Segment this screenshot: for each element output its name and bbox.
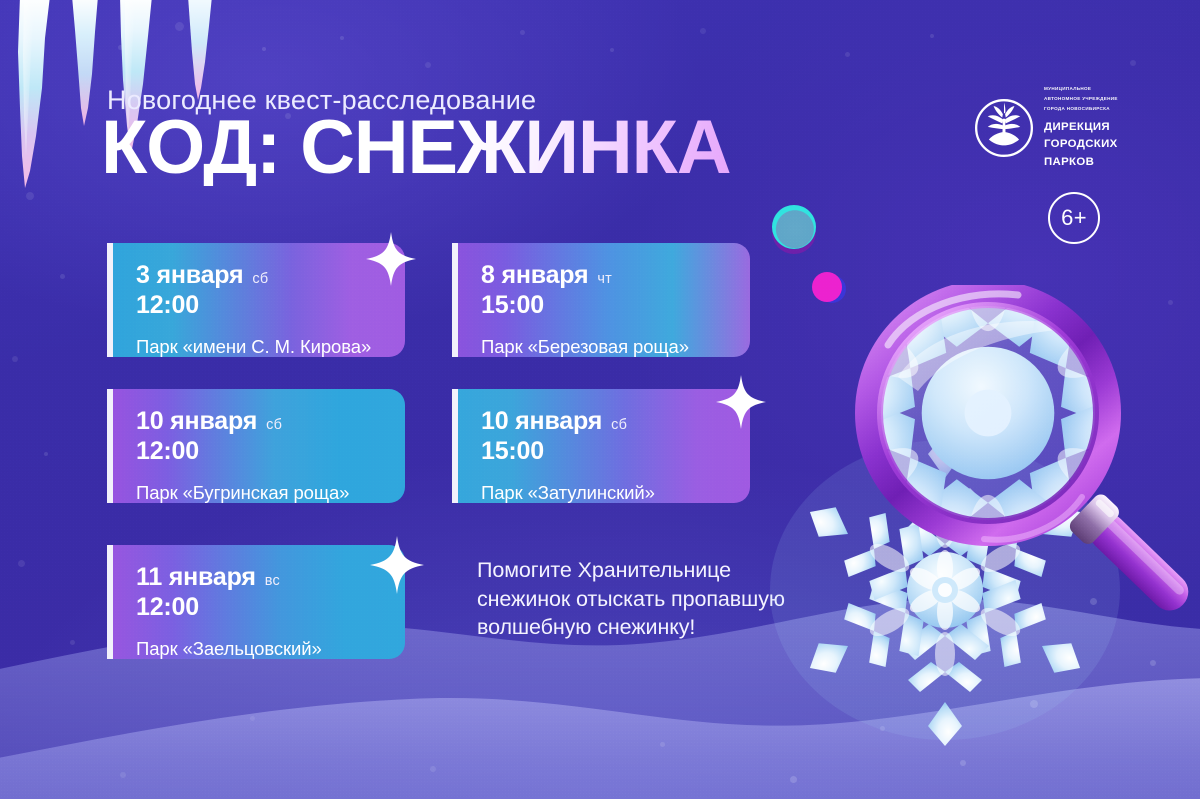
- snow-speck: [430, 766, 436, 772]
- snow-speck: [520, 30, 525, 35]
- snow-speck: [60, 274, 65, 279]
- organization-logo: МУНИЦИПАЛЬНОЕ АВТОНОМНОЕ УЧРЕЖДЕНИЕ ГОРО…: [975, 86, 1118, 169]
- snow-speck: [22, 100, 29, 107]
- card-date: 3 января: [136, 261, 243, 290]
- card-time: 15:00: [481, 291, 750, 320]
- logo-big-line-1: ДИРЕКЦИЯ: [1044, 120, 1118, 134]
- snow-speck: [1150, 660, 1156, 666]
- snow-speck: [1130, 60, 1136, 66]
- snow-speck: [960, 760, 966, 766]
- snow-speck: [250, 716, 255, 721]
- card-place: Парк «имени С. М. Кирова»: [136, 336, 405, 357]
- snow-speck: [12, 356, 18, 362]
- snow-speck: [70, 640, 75, 645]
- card-place: Парк «Березовая роща»: [481, 336, 750, 357]
- snow-speck: [44, 452, 48, 456]
- snow-speck: [660, 742, 665, 747]
- logo-tiny-line-2: АВТОНОМНОЕ УЧРЕЖДЕНИЕ: [1044, 96, 1118, 103]
- poster-canvas: Новогоднее квест-расследование КОД: СНЕЖ…: [0, 0, 1200, 799]
- card-place: Парк «Заельцовский»: [136, 638, 405, 659]
- card-date-row: 8 января чт: [481, 261, 750, 290]
- snowflake-magnifier-illustration: [770, 285, 1200, 785]
- card-time: 12:00: [136, 437, 405, 466]
- snow-speck: [1168, 300, 1173, 305]
- card-date-row: 10 января сб: [481, 407, 750, 436]
- card-weekday: сб: [611, 417, 627, 433]
- card-date-row: 10 января сб: [136, 407, 405, 436]
- card-date-row: 11 января вс: [136, 563, 405, 592]
- card-date: 10 января: [136, 407, 257, 436]
- age-rating-badge: 6+: [1048, 192, 1100, 244]
- card-time: 12:00: [136, 291, 405, 320]
- snow-speck: [930, 34, 934, 38]
- logo-big-line-3: ПАРКОВ: [1044, 155, 1118, 169]
- card-place: Парк «Бугринская роща»: [136, 482, 405, 503]
- card-date: 10 января: [481, 407, 602, 436]
- schedule-card[interactable]: 8 января чт 15:00 Парк «Березовая роща»: [452, 243, 750, 357]
- snow-speck: [340, 36, 344, 40]
- card-weekday: чт: [597, 271, 612, 287]
- card-time: 12:00: [136, 593, 405, 622]
- snow-speck: [880, 726, 885, 731]
- card-date: 8 января: [481, 261, 588, 290]
- decor-circle-teal: [772, 205, 816, 249]
- snow-speck: [120, 772, 126, 778]
- schedule-card[interactable]: 11 января вс 12:00 Парк «Заельцовский»: [107, 545, 405, 659]
- callout-text: Помогите Хранительнице снежинок отыскать…: [477, 556, 787, 642]
- card-date: 11 января: [136, 563, 256, 592]
- card-date-row: 3 января сб: [136, 261, 405, 290]
- snow-speck: [790, 776, 797, 783]
- schedule-card[interactable]: 10 января сб 12:00 Парк «Бугринская роща…: [107, 389, 405, 503]
- logo-big-line-2: ГОРОДСКИХ: [1044, 137, 1118, 151]
- card-time: 15:00: [481, 437, 750, 466]
- snow-speck: [1030, 700, 1038, 708]
- tree-logo-icon: [975, 99, 1033, 157]
- poster-title: КОД: СНЕЖИНКА: [101, 110, 730, 186]
- snow-speck: [26, 192, 34, 200]
- snow-speck: [700, 28, 706, 34]
- card-weekday: вс: [265, 573, 280, 589]
- snow-speck: [175, 22, 184, 31]
- decor-circle-magenta: [812, 272, 842, 302]
- snow-speck: [18, 560, 25, 567]
- snow-speck: [845, 52, 850, 57]
- snow-speck: [262, 47, 266, 51]
- snow-speck: [425, 62, 431, 68]
- card-weekday: сб: [266, 417, 282, 433]
- schedule-card[interactable]: 10 января сб 15:00 Парк «Затулинский»: [452, 389, 750, 503]
- logo-tiny-line-1: МУНИЦИПАЛЬНОЕ: [1044, 86, 1118, 93]
- schedule-card[interactable]: 3 января сб 12:00 Парк «имени С. М. Киро…: [107, 243, 405, 357]
- card-place: Парк «Затулинский»: [481, 482, 750, 503]
- card-weekday: сб: [252, 271, 268, 287]
- snow-speck: [610, 48, 614, 52]
- logo-wordmark: МУНИЦИПАЛЬНОЕ АВТОНОМНОЕ УЧРЕЖДЕНИЕ ГОРО…: [1044, 86, 1118, 169]
- logo-tiny-line-3: ГОРОДА НОВОСИБИРСКА: [1044, 106, 1118, 113]
- snow-speck: [118, 45, 123, 50]
- snow-speck: [1090, 598, 1097, 605]
